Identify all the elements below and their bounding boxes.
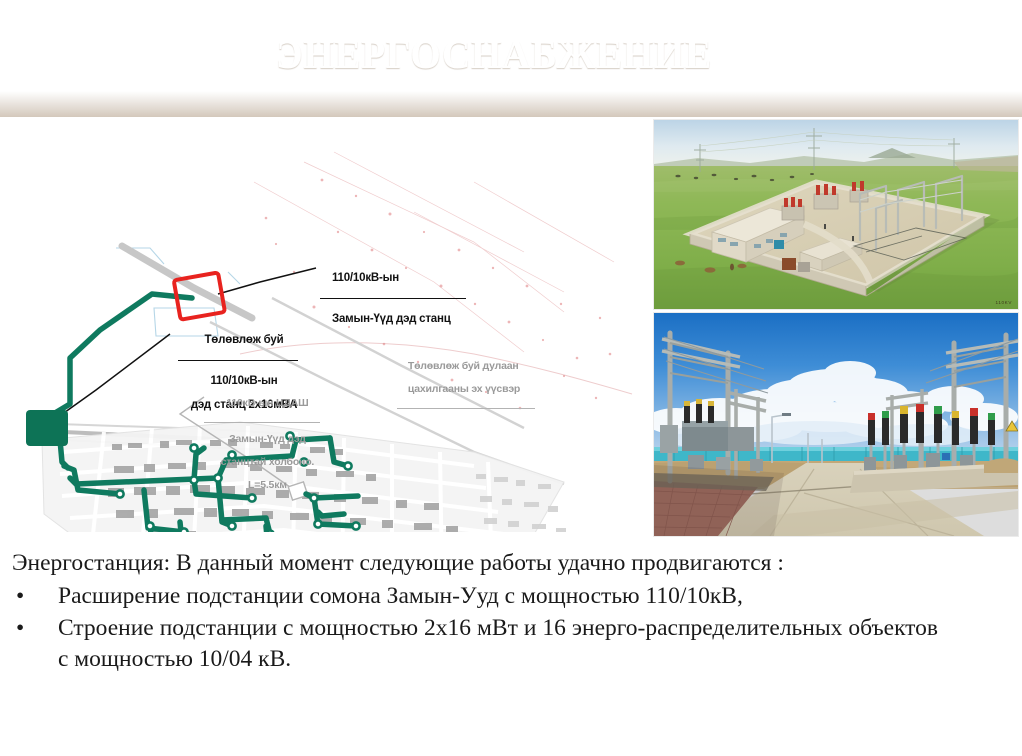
map-label-line: 110/10кВ-ын — [210, 375, 277, 387]
map-label-planned-heat-source: Төлөвлөж буй дулаан цахилгааны эх үүсвэр — [397, 350, 535, 431]
bullet-marker: • — [16, 613, 24, 644]
label-underline — [178, 360, 298, 361]
list-item: • Расширение подстанции сомона Замын-Ууд… — [12, 581, 938, 612]
map-label-line: Замын-Үүд дэд — [229, 433, 306, 445]
list-item: • Строение подстанции с мощностью 2х16 м… — [12, 613, 938, 676]
map-label-line: Төлөвлөж буй дулаан — [408, 360, 519, 372]
bullet-marker: • — [16, 581, 24, 612]
map-label-zamyn-uud-substation: 110/10кВ-ын Замын-Үүд дэд станц — [320, 260, 466, 337]
photo-substation-render[interactable]: 110KV — [654, 120, 1018, 309]
label-underline — [397, 408, 535, 409]
map-label-line: Замын-Үүд дэд станц — [332, 313, 451, 325]
map-label-line: 110кВ-ын ЦДАШ — [226, 397, 308, 409]
render-caption: 110KV — [996, 300, 1012, 305]
list-item-text: Строение подстанции с мощностью 2х16 мВт… — [58, 615, 938, 672]
intro-paragraph: Энергостанция: В данный момент следующие… — [12, 548, 832, 579]
slide-header-banner: ЭНЕРГОСНАБЖЕНИЕ — [0, 0, 1022, 117]
map-label-line: L=5.5км — [248, 479, 287, 491]
substation-yard-photo — [654, 313, 1018, 536]
slide-body-text: Энергостанция: В данный момент следующие… — [12, 548, 1008, 675]
map-label-line: Төлөвлөж буй — [204, 334, 283, 346]
map-label-transmission-line: 110кВ-ын ЦДАШ Замын-Үүд дэд станцтай хол… — [204, 387, 320, 502]
map-label-line: 110/10кВ-ын — [332, 272, 399, 284]
label-underline — [320, 298, 466, 299]
map-label-line: цахилгааны эх үүсвэр — [408, 383, 520, 395]
page-title: ЭНЕРГОСНАБЖЕНИЕ — [276, 31, 712, 78]
label-underline — [204, 422, 320, 423]
bullet-list: • Расширение подстанции сомона Замын-Ууд… — [12, 581, 1008, 675]
photo-substation-yard[interactable] — [654, 313, 1018, 536]
map-label-line: станцтай холбоно. — [221, 456, 314, 468]
existing-substation-marker — [26, 410, 68, 446]
power-network-map[interactable]: 110/10кВ-ын Замын-Үүд дэд станц Төлөвлөж… — [4, 122, 634, 532]
list-item-text: Расширение подстанции сомона Замын-Ууд с… — [58, 583, 743, 609]
substation-render-illustration — [654, 120, 1018, 309]
